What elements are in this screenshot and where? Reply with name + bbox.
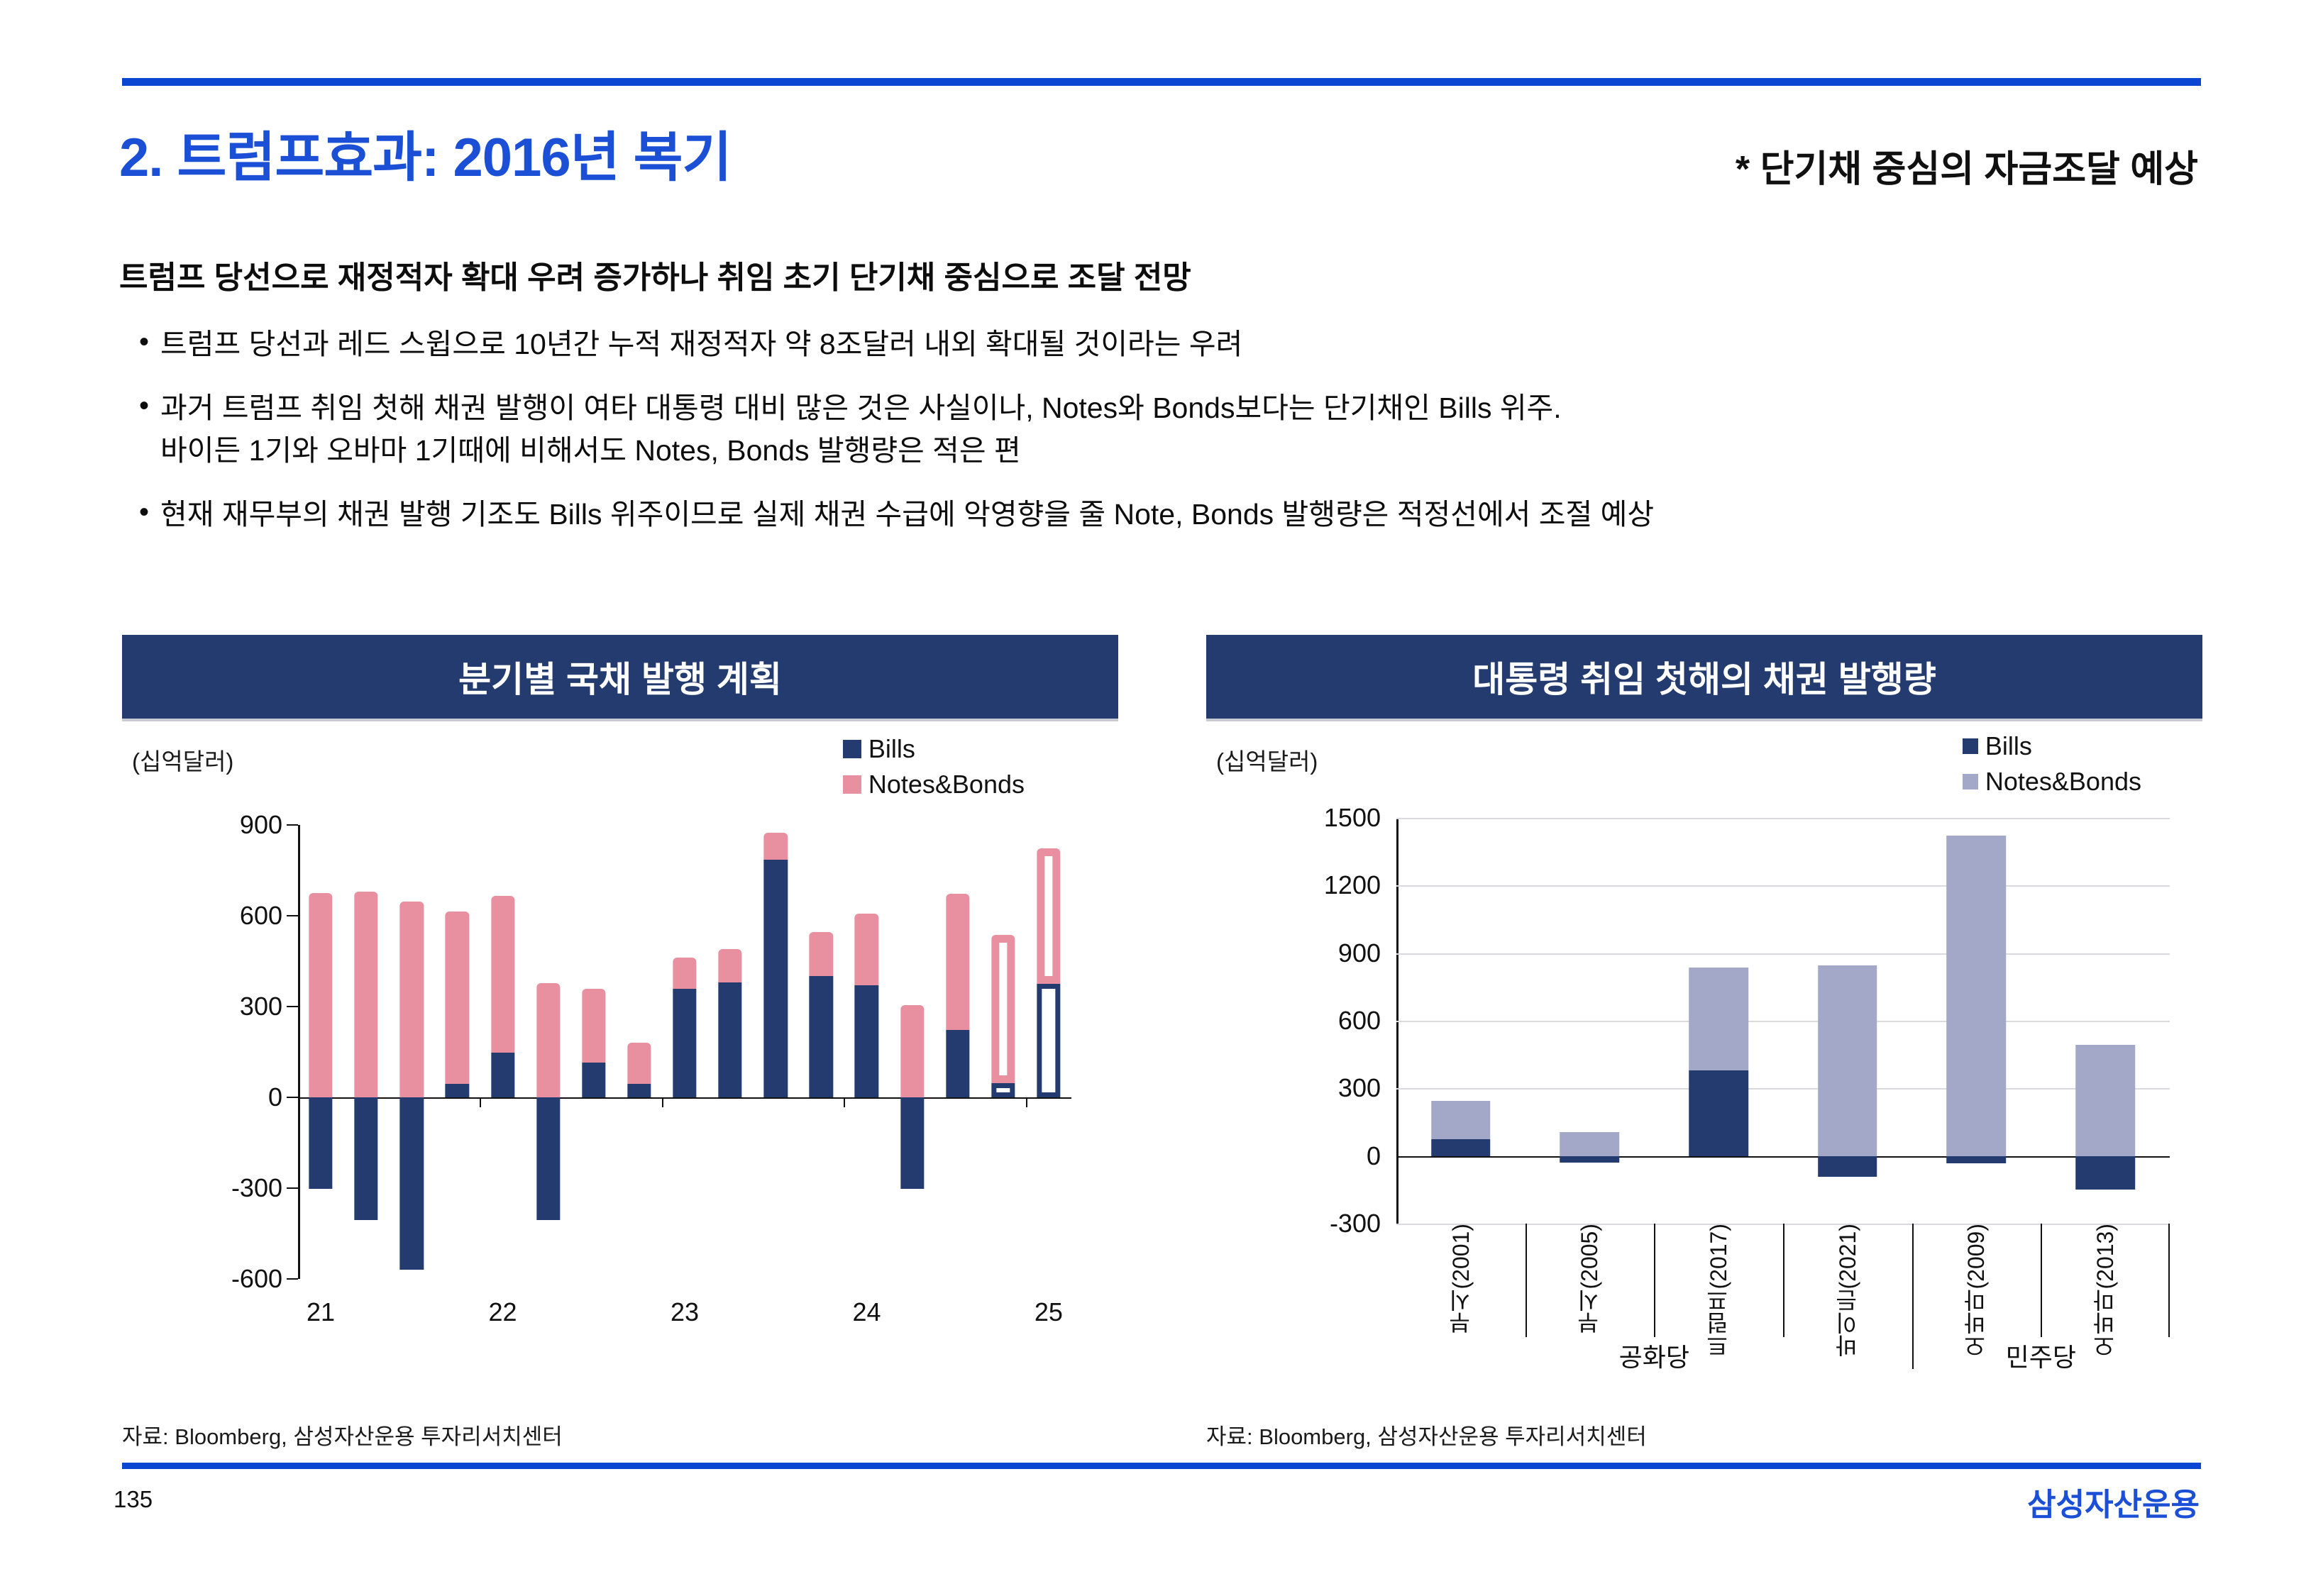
y-axis-tick-label: 600	[1338, 1006, 1396, 1036]
plot-area-right: 150012009006003000-300	[1396, 818, 2170, 1224]
x-axis-tick-label: 24	[852, 1297, 881, 1327]
y-axis-tick-mark	[287, 1278, 298, 1280]
bar-segment-bills	[946, 1030, 969, 1097]
x-axis-tick-label: 25	[1035, 1297, 1063, 1327]
bar-group	[480, 825, 525, 1279]
y-axis-tick-label: 300	[1338, 1073, 1396, 1103]
bar-segment-notes-bonds	[1947, 836, 2007, 1156]
y-axis-tick-mark	[287, 1187, 298, 1189]
bar-segment-bills	[1431, 1139, 1491, 1156]
header-rule	[122, 78, 2201, 86]
list-item: • 현재 재무부의 채권 발행 기조도 Bills 위주이므로 실제 채권 수급…	[139, 493, 2197, 536]
bar-segment-notes-bonds	[491, 896, 514, 1053]
category-label: 오바마(2013)	[2089, 1224, 2122, 1358]
bar-segment-notes-bonds	[2075, 1045, 2135, 1156]
bar-group	[434, 825, 480, 1279]
bar-segment-notes-bonds	[991, 935, 1015, 1082]
bullet-marker: •	[139, 387, 149, 425]
bar-group	[1654, 818, 1783, 1224]
bar-segment-bills	[1560, 1156, 1620, 1163]
bar-segment-bills	[991, 1083, 1015, 1097]
bar-segment-bills	[673, 989, 696, 1097]
legend-swatch-bills-icon	[1963, 738, 1978, 754]
bar-segment-notes-bonds	[718, 949, 741, 982]
bar-segment-notes-bonds	[400, 902, 424, 1097]
bar-group	[1526, 818, 1655, 1224]
bar-segment-bills	[582, 1063, 605, 1097]
legend-label-bills: Bills	[868, 734, 915, 764]
bar-segment-bills	[900, 1097, 924, 1189]
y-axis-tick-mark	[287, 824, 298, 826]
lead-paragraph: 트럼프 당선으로 재정적자 확대 우려 증가하나 취임 초기 단기채 중심으로 …	[119, 252, 1191, 297]
bullet-marker: •	[139, 493, 149, 531]
category-cell: 바이든(2021)	[1783, 1224, 1912, 1337]
footer-rule	[122, 1463, 2201, 1469]
bar-group	[1783, 818, 1912, 1224]
page-title: 2. 트럼프효과: 2016년 복기	[119, 113, 731, 192]
bar-group	[662, 825, 707, 1279]
category-cell: 오바마(2009)	[1912, 1224, 2041, 1337]
bar-group	[981, 825, 1026, 1279]
chart-panel-quarterly-issuance: 분기별 국채 발행 계획 (십억달러) Bills Notes&Bonds 90…	[122, 635, 1118, 1436]
legend-swatch-notesbonds-icon	[1963, 774, 1978, 789]
x-axis-tick-mark	[480, 1097, 481, 1107]
bar-segment-bills	[1818, 1156, 1877, 1177]
bar-segment-notes-bonds	[900, 1005, 924, 1097]
legend-item-bills: Bills	[1963, 731, 2141, 761]
legend-item-bills: Bills	[843, 734, 1025, 764]
bar-segment-notes-bonds	[810, 932, 833, 976]
category-cell: 오바마(2013)	[2041, 1224, 2170, 1337]
bar-segment-bills	[309, 1097, 332, 1189]
category-axis-area: 부시(2001)부시(2005)트럼프(2017)바이든(2021)오바마(20…	[1396, 1224, 2170, 1373]
category-cell: 부시(2005)	[1526, 1224, 1655, 1337]
bar-group	[389, 825, 434, 1279]
bar-segment-notes-bonds	[627, 1043, 651, 1084]
bar-group	[844, 825, 889, 1279]
bullet-marker: •	[139, 323, 149, 361]
bar-group	[298, 825, 343, 1279]
category-divider	[2168, 1224, 2170, 1337]
bar-group	[753, 825, 798, 1279]
bar-group	[526, 825, 571, 1279]
chart-legend: Bills Notes&Bonds	[1963, 731, 2141, 797]
bar-group	[890, 825, 935, 1279]
bar-segment-bills	[354, 1097, 377, 1220]
bar-segment-bills	[2075, 1156, 2135, 1190]
bar-segment-notes-bonds	[946, 894, 969, 1030]
bar-group	[1912, 818, 2041, 1224]
y-axis-tick-mark	[287, 915, 298, 916]
category-label: 트럼프(2017)	[1702, 1224, 1735, 1358]
legend-swatch-bills-icon	[843, 740, 861, 758]
bullet-list: • 트럼프 당선과 레드 스윕으로 10년간 누적 재정적자 약 8조달러 내외…	[139, 323, 2197, 557]
category-cell: 트럼프(2017)	[1654, 1224, 1783, 1337]
category-label: 부시(2005)	[1573, 1224, 1606, 1335]
bar-segment-notes-bonds	[354, 892, 377, 1097]
bar-segment-notes-bonds	[582, 989, 605, 1063]
legend-label-bills: Bills	[1985, 731, 2032, 761]
bar-group	[571, 825, 617, 1279]
page-number: 135	[114, 1486, 153, 1513]
x-axis-tick-mark	[662, 1097, 663, 1107]
group-label: 민주당	[2006, 1337, 2076, 1374]
bullet-text: 과거 트럼프 취임 첫해 채권 발행이 여타 대통령 대비 많은 것은 사실이나…	[160, 387, 1562, 472]
bar-group	[935, 825, 981, 1279]
bar-segment-bills	[536, 1097, 560, 1220]
bar-segment-bills	[446, 1084, 469, 1097]
bar-segment-notes-bonds	[446, 911, 469, 1083]
category-label: 부시(2001)	[1445, 1224, 1477, 1335]
bar-segment-bills	[627, 1084, 651, 1097]
bar-group	[1396, 818, 1526, 1224]
legend-item-notes-bonds: Notes&Bonds	[843, 770, 1025, 799]
panel-title-bar: 분기별 국채 발행 계획	[122, 635, 1118, 721]
panel-title: 분기별 국채 발행 계획	[458, 651, 782, 702]
bar-group	[1026, 825, 1071, 1279]
bar-segment-notes-bonds	[1037, 848, 1060, 984]
bullet-text: 트럼프 당선과 레드 스윕으로 10년간 누적 재정적자 약 8조달러 내외 확…	[160, 323, 1242, 365]
list-item: • 과거 트럼프 취임 첫해 채권 발행이 여타 대통령 대비 많은 것은 사실…	[139, 387, 2197, 472]
bar-segment-notes-bonds	[309, 893, 332, 1097]
bar-segment-notes-bonds	[855, 914, 878, 986]
bar-segment-notes-bonds	[1689, 968, 1748, 1070]
legend-swatch-notesbonds-icon	[843, 775, 861, 794]
category-divider	[1526, 1224, 1527, 1337]
group-divider	[1912, 1224, 1914, 1369]
x-axis-tick-label: 23	[671, 1297, 699, 1327]
bar-segment-notes-bonds	[764, 833, 788, 860]
x-axis-tick-label: 21	[307, 1297, 335, 1327]
bar-segment-bills	[764, 860, 788, 1097]
bullet-text: 현재 재무부의 채권 발행 기조도 Bills 위주이므로 실제 채권 수급에 …	[160, 493, 1654, 536]
category-cell: 부시(2001)	[1396, 1224, 1526, 1337]
bar-segment-bills	[400, 1097, 424, 1270]
bar-segment-notes-bonds	[673, 958, 696, 989]
x-axis-tick-mark	[1026, 1097, 1027, 1107]
y-axis-tick-label: 900	[1338, 938, 1396, 968]
plot-area-left: 9006003000-300-6002122232425	[298, 825, 1071, 1279]
brand-logo: 삼성자산운용	[2027, 1479, 2200, 1524]
category-label: 오바마(2009)	[1960, 1224, 1992, 1358]
category-divider	[1654, 1224, 1655, 1337]
source-note-right: 자료: Bloomberg, 삼성자산운용 투자리서치센터	[1206, 1419, 1647, 1451]
x-axis-tick-label: 22	[488, 1297, 517, 1327]
legend-label-notes-bonds: Notes&Bonds	[868, 770, 1025, 799]
y-axis-tick-mark	[287, 1006, 298, 1007]
bar-segment-notes-bonds	[1560, 1132, 1620, 1156]
bar-segment-bills	[718, 982, 741, 1097]
panel-title-bar: 대통령 취임 첫해의 채권 발행량	[1206, 635, 2202, 721]
bar-segment-notes-bonds	[1431, 1101, 1491, 1138]
y-axis-unit-label: (십억달러)	[132, 743, 233, 777]
group-label: 공화당	[1619, 1337, 1689, 1374]
bar-group	[343, 825, 389, 1279]
bar-group	[2041, 818, 2170, 1224]
bar-segment-notes-bonds	[536, 983, 560, 1097]
y-axis-tick-label: 1500	[1324, 803, 1396, 833]
header-note: * 단기채 중심의 자금조달 예상	[1736, 139, 2198, 192]
list-item: • 트럼프 당선과 레드 스윕으로 10년간 누적 재정적자 약 8조달러 내외…	[139, 323, 2197, 365]
bar-segment-notes-bonds	[1818, 965, 1877, 1156]
bar-segment-bills	[1689, 1070, 1748, 1156]
chart-legend: Bills Notes&Bonds	[843, 734, 1025, 799]
y-axis-tick-mark	[287, 1097, 298, 1098]
bar-segment-bills	[810, 976, 833, 1097]
y-axis-unit-label: (십억달러)	[1216, 743, 1318, 777]
y-axis-tick-label: 1200	[1324, 870, 1396, 900]
y-axis-tick-label: 0	[1367, 1141, 1396, 1171]
legend-item-notes-bonds: Notes&Bonds	[1963, 767, 2141, 797]
bar-group	[707, 825, 753, 1279]
category-divider	[2041, 1224, 2042, 1337]
y-axis-tick-label: -300	[1330, 1209, 1396, 1238]
bar-segment-bills	[855, 985, 878, 1097]
chart-panel-first-year-issuance: 대통령 취임 첫해의 채권 발행량 (십억달러) Bills Notes&Bon…	[1206, 635, 2202, 1436]
panel-title: 대통령 취임 첫해의 채권 발행량	[1472, 651, 1936, 702]
bar-segment-bills	[1947, 1156, 2007, 1163]
category-divider	[1783, 1224, 1784, 1337]
source-note-left: 자료: Bloomberg, 삼성자산운용 투자리서치센터	[122, 1419, 563, 1451]
bar-group	[617, 825, 662, 1279]
legend-label-notes-bonds: Notes&Bonds	[1985, 767, 2141, 797]
bar-segment-bills	[491, 1053, 514, 1097]
bar-group	[798, 825, 844, 1279]
bar-segment-bills	[1037, 984, 1060, 1097]
x-axis-tick-mark	[844, 1097, 845, 1107]
category-label: 바이든(2021)	[1831, 1224, 1864, 1358]
